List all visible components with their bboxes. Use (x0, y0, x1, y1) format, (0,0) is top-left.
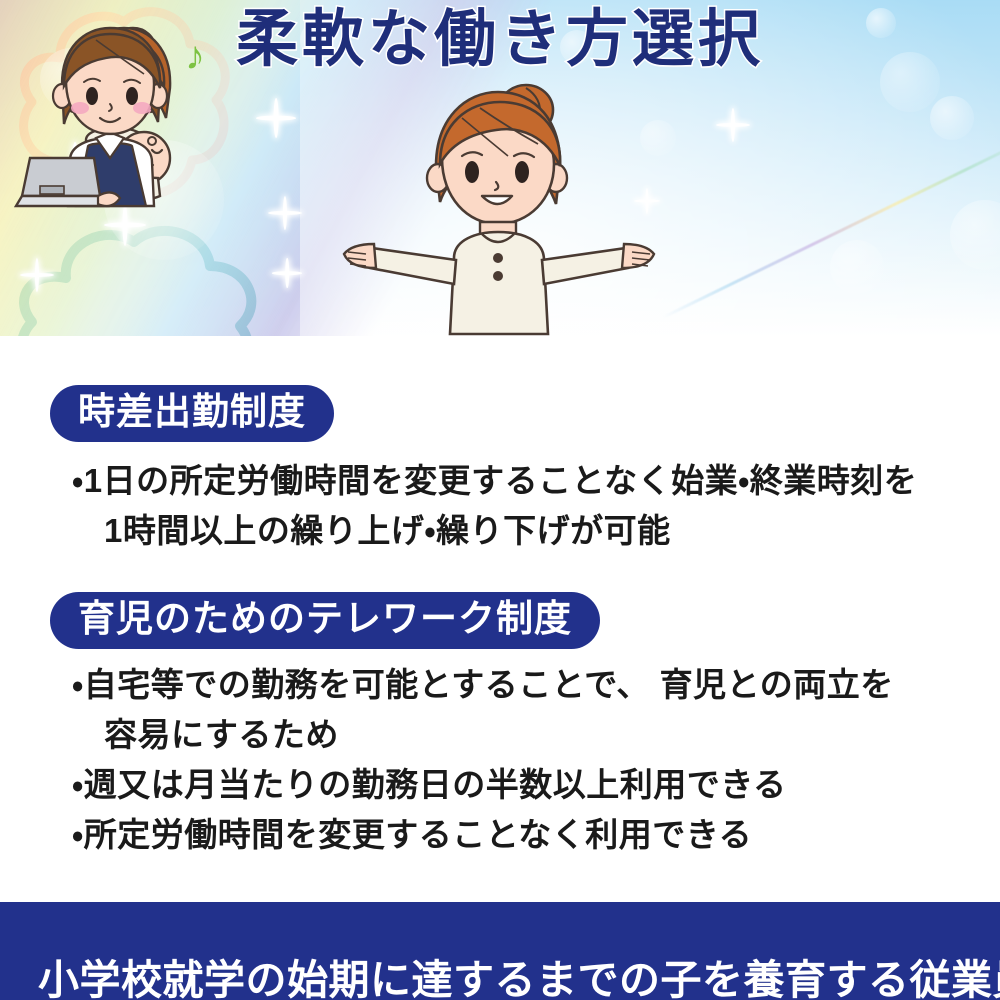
bullet-line: 1時間以上の繰り上げ・繰り下げが可能 (72, 506, 917, 556)
hero-header: ♪ 柔軟な働き方選択 (0, 0, 1000, 336)
bullet-line: ・1日の所定労働時間を変更することなく始業・終業時刻を (72, 456, 917, 506)
section-2-bullets: ・自宅等での勤務を可能とすることで、 育児との両立を 容易にするため ・週又は月… (72, 660, 894, 861)
bullet-line: ・自宅等での勤務を可能とすることで、 育児との両立を (72, 660, 894, 710)
page-title: 柔軟な働き方選択 (0, 0, 1000, 78)
woman-arms-open-figure (330, 72, 670, 336)
section-1-bullets: ・1日の所定労働時間を変更することなく始業・終業時刻を 1時間以上の繰り上げ・繰… (72, 456, 917, 556)
footer-banner-text: 小学校就学の始期に達するまでの子を養育する従業員は、 (38, 955, 1000, 1000)
bullet-line: 容易にするため (72, 710, 894, 760)
footer-banner: 小学校就学の始期に達するまでの子を養育する従業員は、 (0, 902, 1000, 1000)
bullet-line: ・週又は月当たりの勤務日の半数以上利用できる (72, 760, 894, 810)
content-body: 時差出勤制度 ・1日の所定労働時間を変更することなく始業・終業時刻を 1時間以上… (0, 336, 1000, 902)
section-1-pill-label: 時差出勤制度 (50, 385, 334, 442)
section-2-pill-label: 育児のためのテレワーク制度 (50, 592, 600, 649)
section-heading-staggered-hours: 時差出勤制度 (50, 385, 334, 442)
bullet-line: ・所定労働時間を変更することなく利用できる (72, 810, 894, 860)
section-heading-telework: 育児のためのテレワーク制度 (50, 592, 600, 649)
